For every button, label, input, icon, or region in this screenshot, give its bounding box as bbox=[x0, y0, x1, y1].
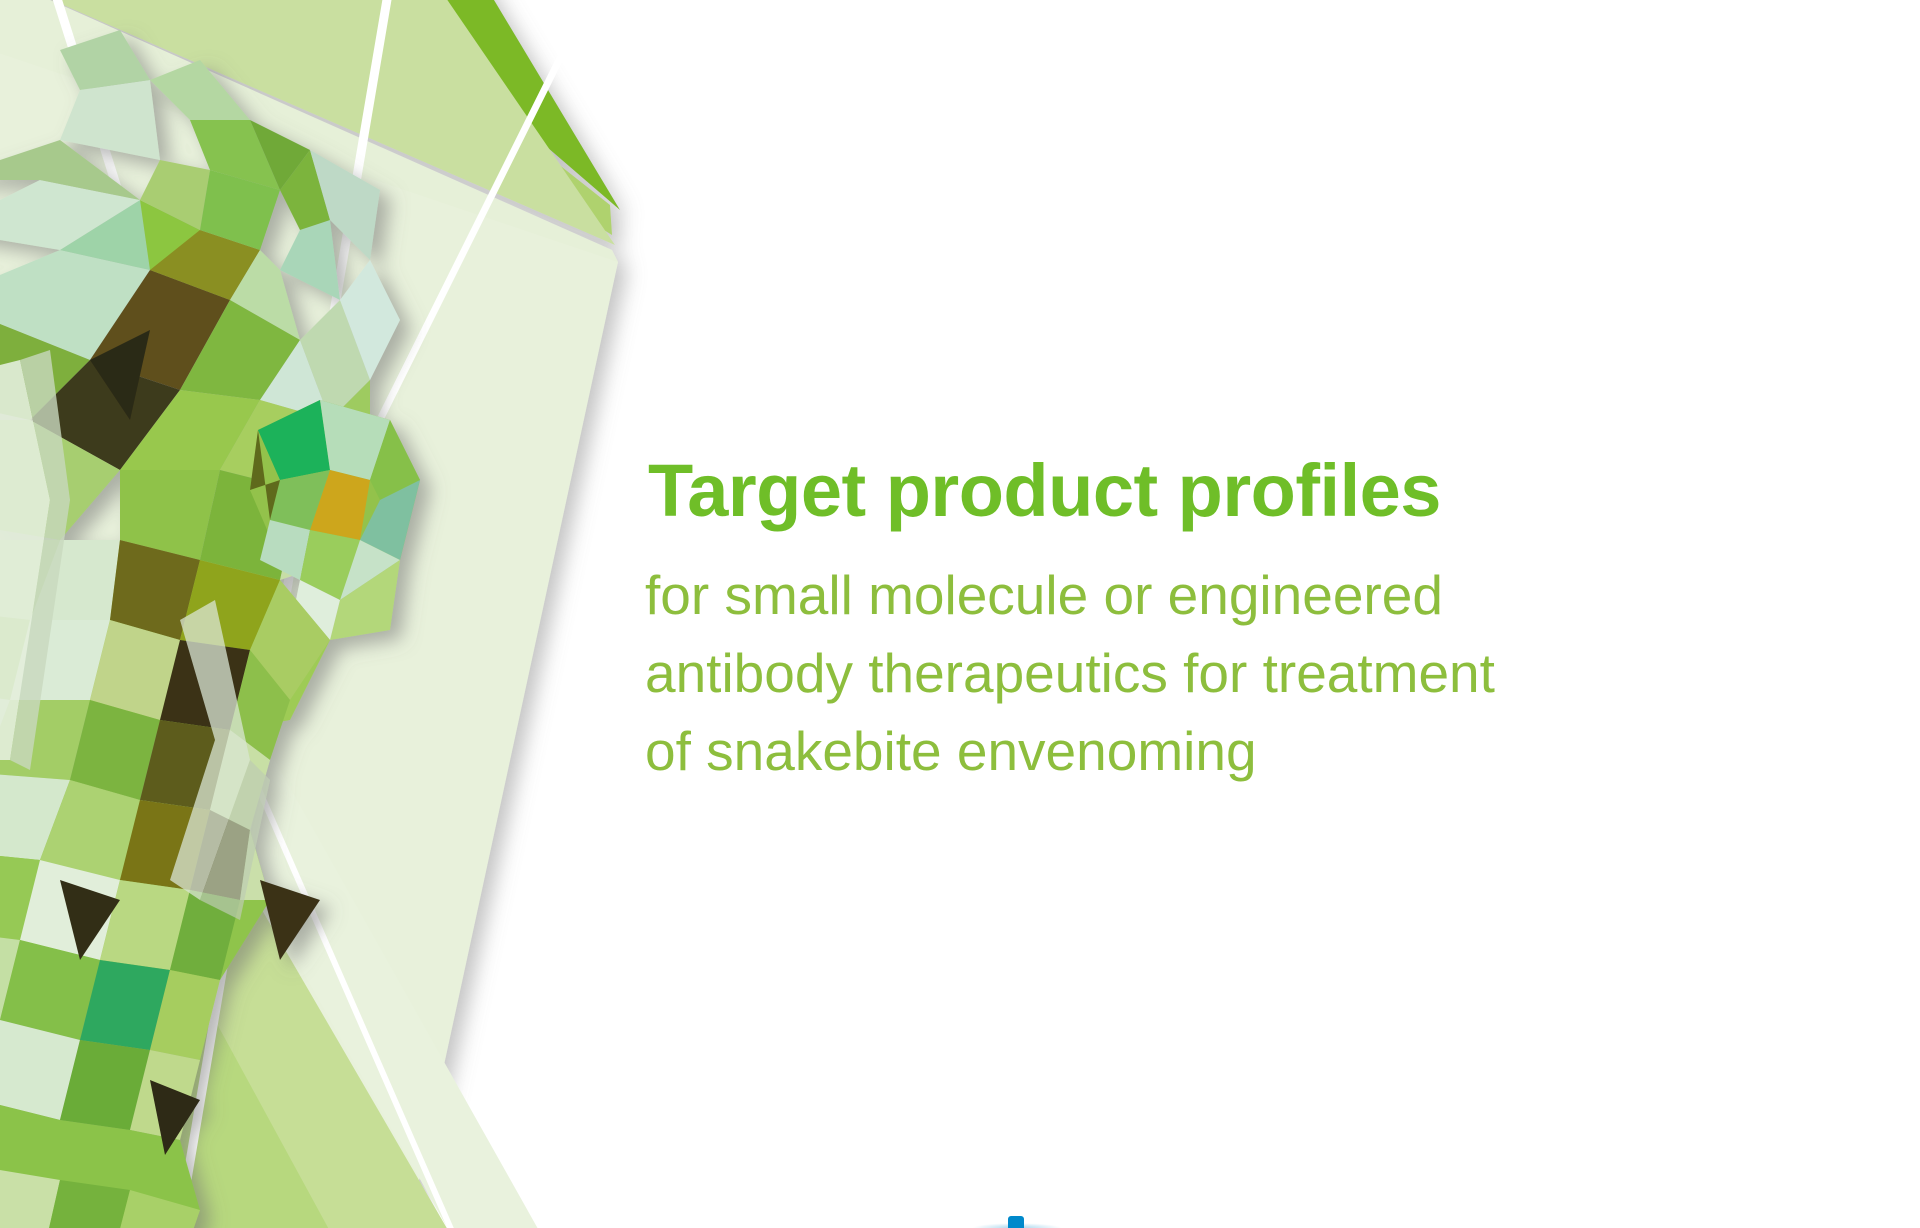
page-title: Target product profiles bbox=[648, 448, 1828, 534]
page-subtitle: for small molecule or engineered antibod… bbox=[645, 556, 1655, 790]
subtitle-line-1: for small molecule or engineered bbox=[645, 556, 1655, 634]
subtitle-line-3: of snakebite envenoming bbox=[645, 712, 1655, 790]
subtitle-line-2: antibody therapeutics for treatment bbox=[645, 634, 1655, 712]
cover-page: Target product profiles for small molecu… bbox=[0, 0, 1920, 1228]
partial-logo-icon bbox=[1008, 1216, 1024, 1228]
cover-text-block: Target product profiles for small molecu… bbox=[648, 448, 1828, 790]
